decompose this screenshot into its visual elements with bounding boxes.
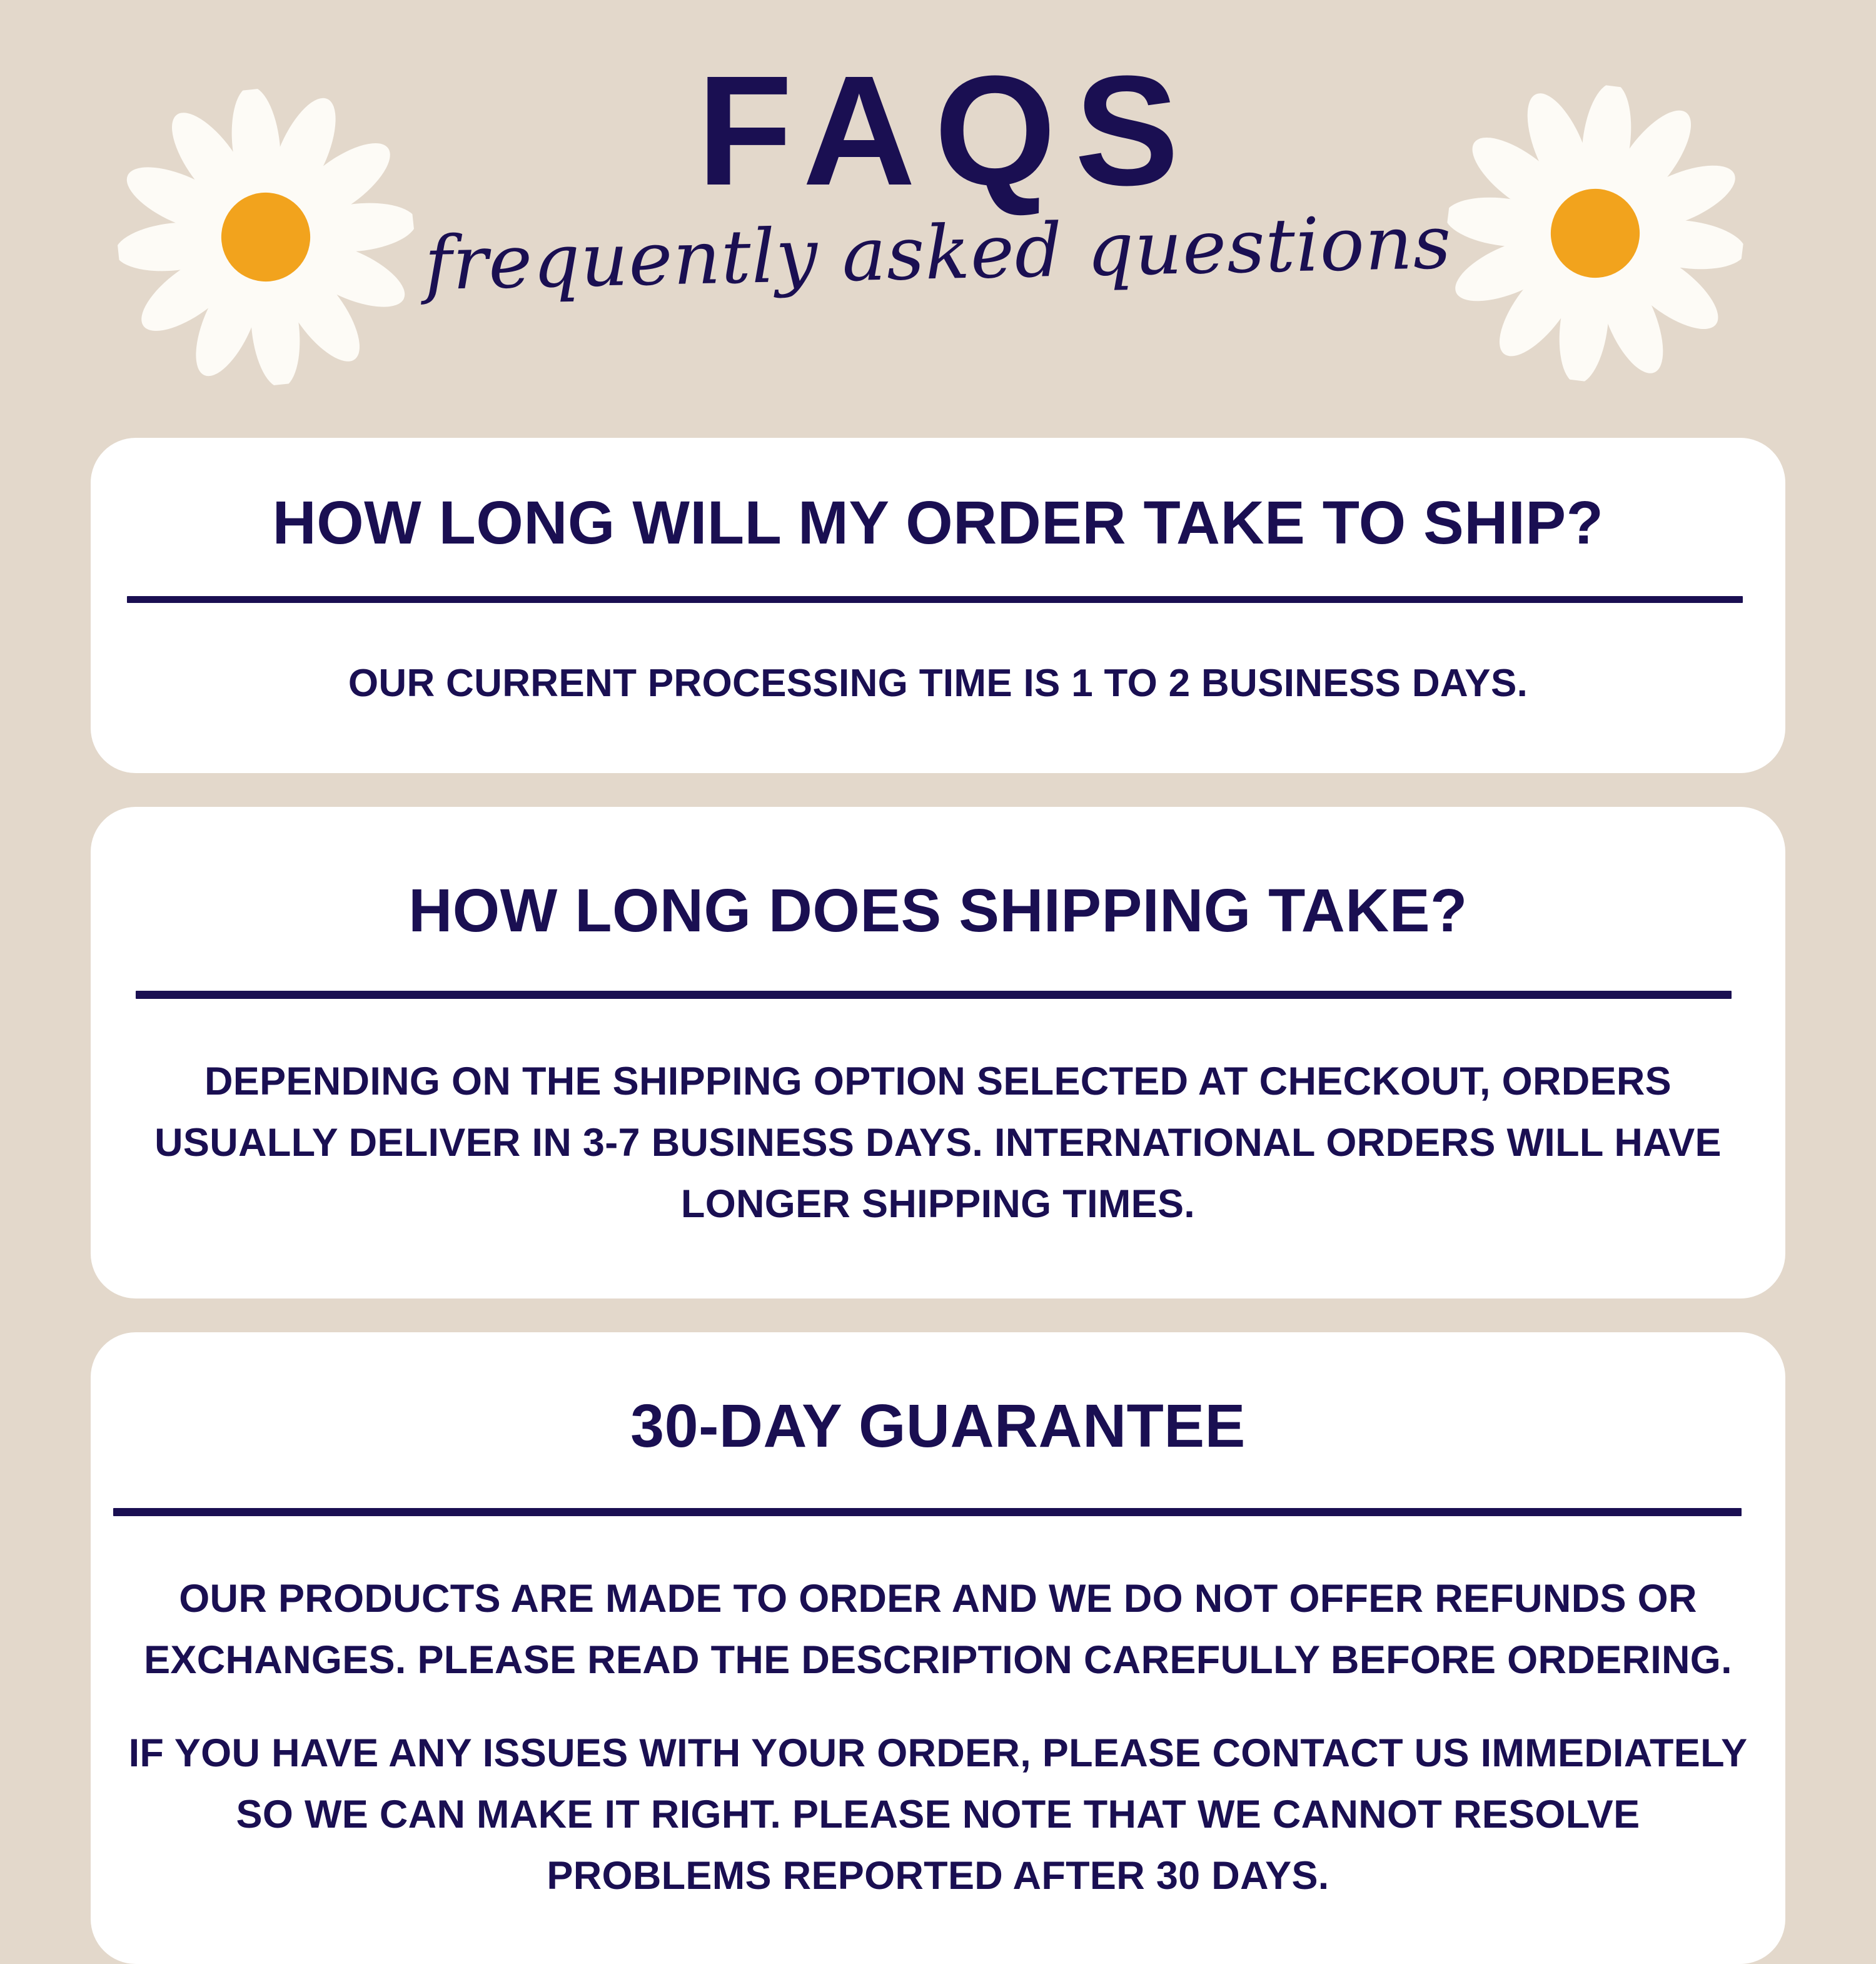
faq-card: HOW LONG DOES SHIPPING TAKE? DEPENDING O… (91, 807, 1785, 1299)
faq-question: 30-DAY GUARANTEE (128, 1392, 1748, 1460)
title-block: FAQS frequently asked questions (0, 0, 1876, 290)
faq-list: HOW LONG WILL MY ORDER TAKE TO SHIP? OUR… (0, 438, 1876, 1964)
faq-answer: IF YOU HAVE ANY ISSUES WITH YOUR ORDER, … (128, 1723, 1748, 1906)
faq-divider (113, 1508, 1742, 1516)
faq-answer: DEPENDING ON THE SHIPPING OPTION SELECTE… (128, 1051, 1748, 1235)
faq-page: FAQS frequently asked questions HOW LONG… (0, 0, 1876, 1876)
faq-card: 30-DAY GUARANTEE OUR PRODUCTS ARE MADE T… (91, 1332, 1785, 1964)
faq-divider (127, 596, 1743, 603)
faq-question: HOW LONG WILL MY ORDER TAKE TO SHIP? (128, 489, 1748, 557)
page-title: FAQS (0, 0, 1876, 207)
faq-divider (136, 991, 1732, 999)
page-header: FAQS frequently asked questions (0, 0, 1876, 438)
faq-card: HOW LONG WILL MY ORDER TAKE TO SHIP? OUR… (91, 438, 1785, 773)
faq-answer: OUR CURRENT PROCESSING TIME IS 1 TO 2 BU… (128, 654, 1748, 713)
faq-answer: OUR PRODUCTS ARE MADE TO ORDER AND WE DO… (128, 1569, 1748, 1691)
faq-question: HOW LONG DOES SHIPPING TAKE? (128, 877, 1748, 945)
